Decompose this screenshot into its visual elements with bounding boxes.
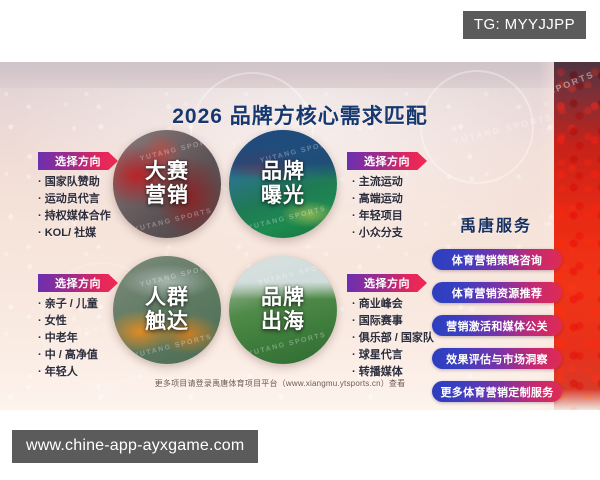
list-item: 主流运动 [352,174,403,191]
circle-label-line2: 营销 [145,184,189,208]
circle-brand-globalization[interactable]: YUTANG SPORTS YUTANG SPORTS 品牌 出海 [229,256,337,364]
circle-label-line1: 品牌 [261,160,305,184]
circle-event-marketing[interactable]: YUTANG SPORTS YUTANG SPORTS 大赛 营销 [113,130,221,238]
list-item: KOL/ 社媒 [38,225,111,242]
list-item: 商业峰会 [352,296,434,313]
poster-top-band [0,62,600,88]
list-item: 中 / 高净值 [38,347,98,364]
direction-badge-sport-type: 选择方向 [347,152,427,170]
list-item: 国际赛事 [352,313,434,330]
list-item: 国家队赞助 [38,174,111,191]
list-item: 持权媒体合作 [38,208,111,225]
circle-label-line1: 品牌 [261,286,305,310]
site-url-badge: www.chine-app-ayxgame.com [12,430,258,463]
circle-label: 品牌 出海 [261,286,305,333]
circle-label-line2: 触达 [145,310,189,334]
circle-label-line2: 出海 [261,310,305,334]
service-pill-strategy-consulting[interactable]: 体育营销策略咨询 [432,249,562,270]
circle-label: 品牌 曝光 [261,160,305,207]
service-pill-activation-pr[interactable]: 营销激活和媒体公关 [432,315,562,336]
list-audience: 亲子 / 儿童 女性 中老年 中 / 高净值 年轻人 [38,296,98,381]
promo-poster: YUTANG SPORTS YUTANG SPORTS YUTANG SPORT… [0,62,600,410]
list-item: 俱乐部 / 国家队 [352,330,434,347]
list-item: 中老年 [38,330,98,347]
direction-badge-overseas: 选择方向 [347,274,427,292]
page-title: 2026 品牌方核心需求匹配 [0,100,600,130]
list-overseas: 商业峰会 国际赛事 俱乐部 / 国家队 球星代言 转播媒体 [352,296,434,381]
list-item: 年轻项目 [352,208,403,225]
list-item: 球星代言 [352,347,434,364]
list-item: 女性 [38,313,98,330]
list-item: 高端运动 [352,191,403,208]
circle-label-line2: 曝光 [261,184,305,208]
direction-badge-audience: 选择方向 [38,274,118,292]
services-panel-title: 禹唐服务 [430,212,562,236]
list-sport-type: 主流运动 高端运动 年轻项目 小众分支 [352,174,403,242]
circle-label: 大赛 营销 [145,160,189,207]
circle-brand-exposure[interactable]: YUTANG SPORTS YUTANG SPORTS 品牌 曝光 [229,130,337,238]
circle-label: 人群 触达 [145,286,189,333]
circle-label-line1: 人群 [145,286,189,310]
list-sponsorship: 国家队赞助 运动员代言 持权媒体合作 KOL/ 社媒 [38,174,111,242]
circle-audience-reach[interactable]: YUTANG SPORTS YUTANG SPORTS 人群 触达 [113,256,221,364]
screenshot-stage: TG: MYYJJPP YUTANG SPORTS YUTANG SPORTS … [0,0,600,480]
service-pill-resource-recommendation[interactable]: 体育营销资源推荐 [432,282,562,303]
circle-label-line1: 大赛 [145,160,189,184]
list-item: 运动员代言 [38,191,111,208]
service-pill-effect-evaluation[interactable]: 效果评估与市场洞察 [432,348,562,369]
direction-badge-sponsorship: 选择方向 [38,152,118,170]
telegram-handle-badge: TG: MYYJJPP [463,11,586,39]
list-item: 亲子 / 儿童 [38,296,98,313]
poster-footer-note: 更多项目请登录禹唐体育项目平台（www.xiangmu.ytsports.cn）… [0,378,560,389]
list-item: 小众分支 [352,225,403,242]
